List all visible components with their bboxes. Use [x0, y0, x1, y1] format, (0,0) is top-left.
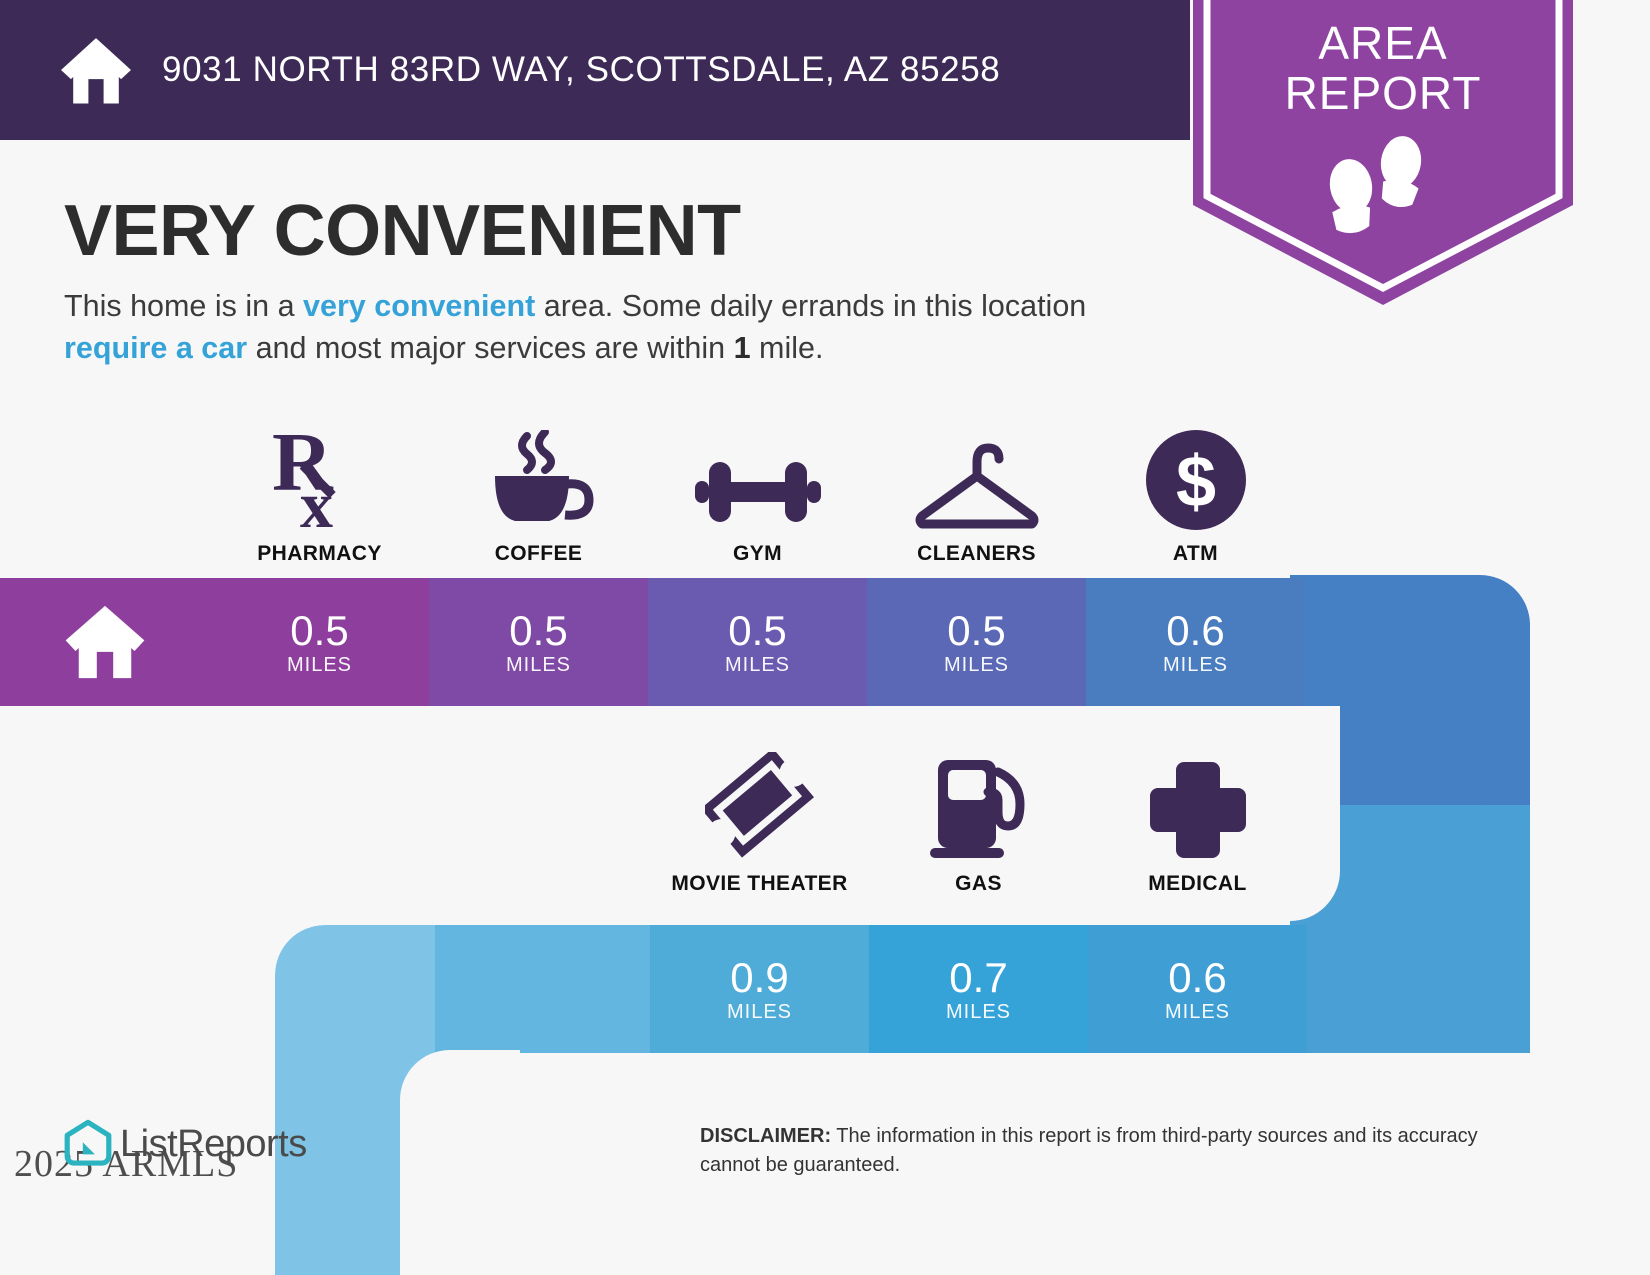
icon-cell-pharmacy: R x PHARMACY — [210, 425, 429, 566]
icon-cell-gas: GAS — [869, 755, 1088, 896]
icon-label-coffee: COFFEE — [495, 542, 583, 566]
desc-part-4: mile. — [751, 331, 824, 365]
page-description: This home is in a very convenient area. … — [64, 285, 1114, 369]
icon-cell-gym: GYM — [648, 425, 867, 566]
svg-text:$: $ — [1175, 442, 1215, 522]
row2-value-movie-theater: 0.9 — [730, 955, 788, 1001]
desc-highlight-2: require a car — [64, 331, 247, 365]
row1-cell-cleaners: 0.5 MILES — [867, 578, 1086, 706]
prescription-rx-icon: R x — [270, 425, 370, 530]
row2-unit-medical: MILES — [1165, 1001, 1230, 1024]
row2-lead-segment-2 — [435, 925, 650, 1053]
icon-cell-atm: $ ATM — [1086, 425, 1305, 566]
icon-label-gas: GAS — [955, 872, 1002, 896]
disclaimer: DISCLAIMER: The information in this repo… — [700, 1122, 1510, 1180]
listreports-wordmark: ListReports — [120, 1123, 307, 1166]
icon-cell-coffee: COFFEE — [429, 425, 648, 566]
disclaimer-label: DISCLAIMER: — [700, 1125, 831, 1147]
page-title: VERY CONVENIENT — [64, 190, 741, 272]
desc-part-3: and most major services are within — [247, 331, 733, 365]
icon-label-movie-theater: MOVIE THEATER — [671, 872, 847, 896]
row1-value-cleaners: 0.5 — [947, 608, 1005, 654]
row1-home-cell — [0, 578, 210, 706]
property-address: 9031 NORTH 83RD WAY, SCOTTSDALE, AZ 8525… — [162, 50, 1000, 90]
badge-line-2: REPORT — [1285, 67, 1482, 119]
row1-value-coffee: 0.5 — [509, 608, 567, 654]
row1-unit-coffee: MILES — [506, 654, 571, 677]
row1-cell-atm: 0.6 MILES — [1086, 578, 1305, 706]
row1-unit-pharmacy: MILES — [287, 654, 352, 677]
row2-cell-gas: 0.7 MILES — [869, 925, 1088, 1053]
row1-unit-atm: MILES — [1163, 654, 1228, 677]
movie-ticket-icon — [705, 755, 815, 860]
icon-cell-medical: MEDICAL — [1088, 755, 1307, 896]
listreports-logo: ListReports — [62, 1118, 307, 1170]
row2-cell-movie-theater: 0.9 MILES — [650, 925, 869, 1053]
dumbbell-icon — [695, 425, 821, 530]
row1-distance-bar: 0.5 MILES 0.5 MILES 0.5 MILES 0.5 MILES … — [0, 578, 1530, 706]
dollar-circle-icon: $ — [1146, 425, 1246, 530]
icon-label-atm: ATM — [1173, 542, 1218, 566]
route-track-left-leg-cutout — [400, 1050, 520, 1275]
row1-value-gym: 0.5 — [728, 608, 786, 654]
row2-tail-segment — [1307, 925, 1530, 1053]
row2-unit-movie-theater: MILES — [727, 1001, 792, 1024]
gas-pump-icon — [924, 755, 1034, 860]
home-icon — [64, 604, 146, 680]
medical-cross-icon — [1148, 755, 1248, 860]
row2-cell-medical: 0.6 MILES — [1088, 925, 1307, 1053]
desc-highlight-1: very convenient — [303, 289, 535, 323]
icon-label-gym: GYM — [733, 542, 782, 566]
row1-cell-pharmacy: 0.5 MILES — [210, 578, 429, 706]
listreports-house-icon — [62, 1118, 114, 1170]
area-report-badge: AREA REPORT — [1193, 0, 1573, 305]
badge-line-1: AREA — [1318, 17, 1447, 69]
desc-part-2: area. Some daily errands in this locatio… — [535, 289, 1086, 323]
row2-value-gas: 0.7 — [949, 955, 1007, 1001]
clothes-hanger-icon — [912, 425, 1042, 530]
row2-icon-strip: MOVIE THEATER GAS M — [650, 755, 1307, 896]
coffee-cup-icon — [483, 425, 595, 530]
row2-lead-segment-1 — [275, 925, 435, 1053]
row2-distance-bar: 0.9 MILES 0.7 MILES 0.6 MILES — [275, 925, 1530, 1053]
icon-cell-cleaners: CLEANERS — [867, 425, 1086, 566]
desc-part-1: This home is in a — [64, 289, 303, 323]
icon-cell-movie-theater: MOVIE THEATER — [650, 755, 869, 896]
row2-unit-gas: MILES — [946, 1001, 1011, 1024]
row1-unit-gym: MILES — [725, 654, 790, 677]
header-bar: 9031 NORTH 83RD WAY, SCOTTSDALE, AZ 8525… — [0, 0, 1190, 140]
row1-icon-strip: R x PHARMACY COFFEE — [210, 425, 1305, 566]
icon-label-pharmacy: PHARMACY — [257, 542, 382, 566]
home-icon — [58, 32, 134, 108]
badge-text-block: AREA REPORT — [1193, 18, 1573, 118]
row1-tail-segment — [1305, 578, 1530, 706]
icon-label-cleaners: CLEANERS — [917, 542, 1036, 566]
row1-cell-coffee: 0.5 MILES — [429, 578, 648, 706]
row1-cell-gym: 0.5 MILES — [648, 578, 867, 706]
row1-value-atm: 0.6 — [1166, 608, 1224, 654]
area-report-page: 9031 NORTH 83RD WAY, SCOTTSDALE, AZ 8525… — [0, 0, 1650, 1275]
desc-highlight-3: 1 — [734, 331, 751, 365]
row1-unit-cleaners: MILES — [944, 654, 1009, 677]
row1-value-pharmacy: 0.5 — [290, 608, 348, 654]
icon-label-medical: MEDICAL — [1148, 872, 1246, 896]
row2-value-medical: 0.6 — [1168, 955, 1226, 1001]
